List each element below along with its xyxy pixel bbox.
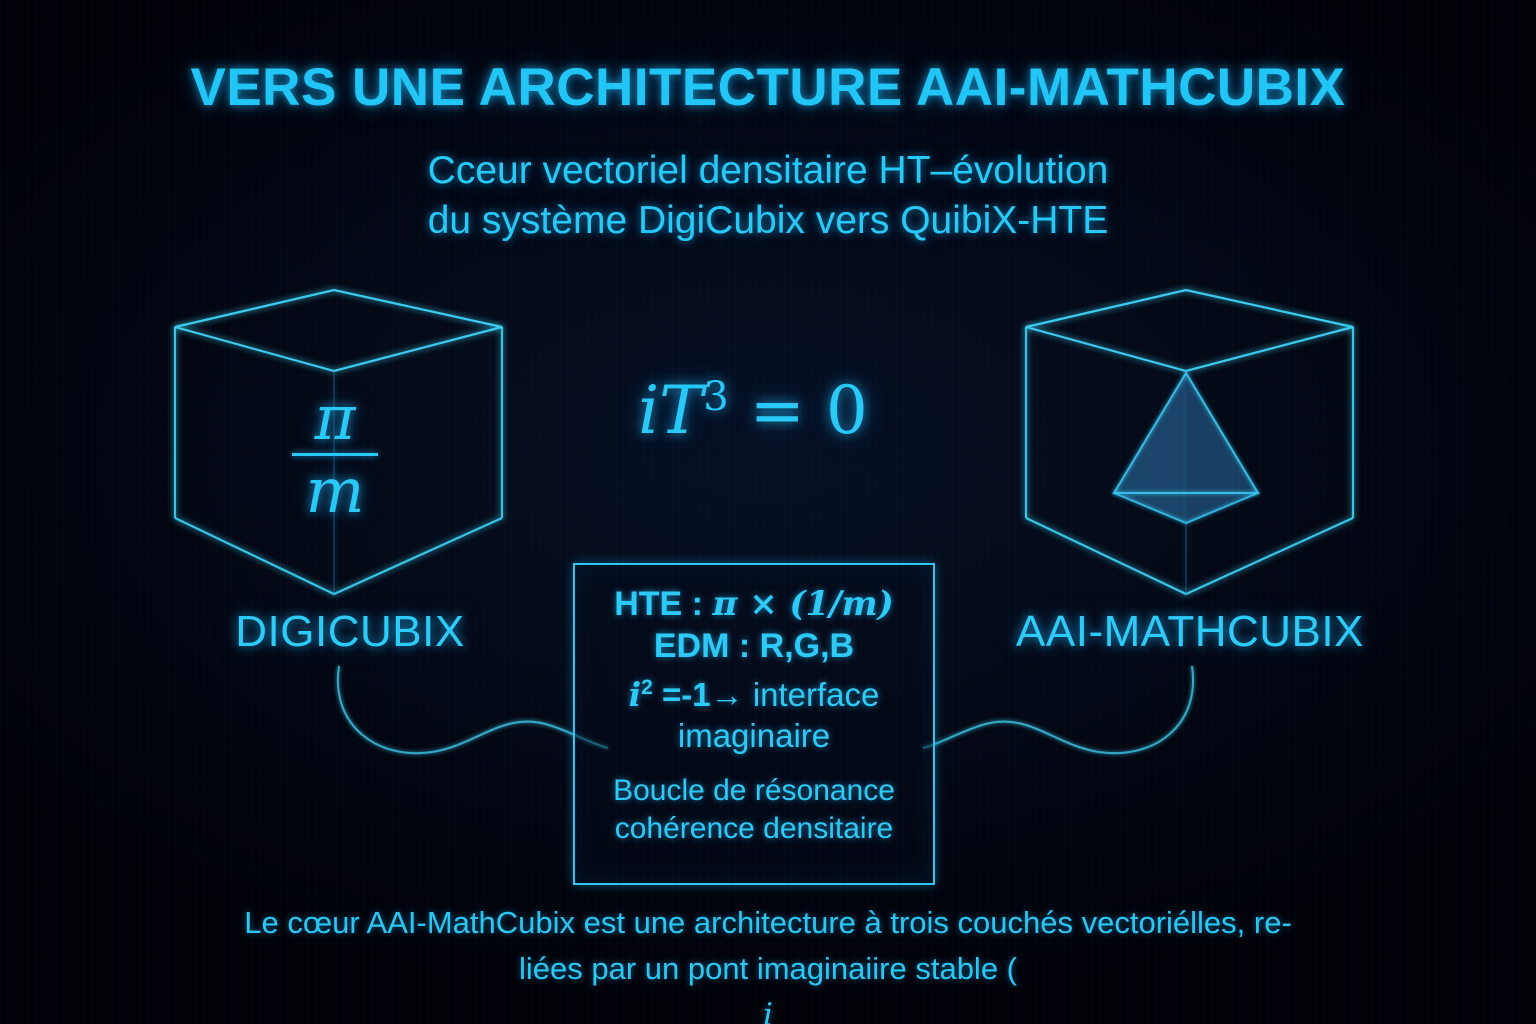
fraction-denominator: m [255,458,415,523]
panel-imaginary-arrow: → [711,676,744,713]
panel-edm-label: EDM : [654,627,750,665]
panel-edm-value: R,G,B [760,627,854,665]
subtitle-line-2: du système DigiCubix vers QuibiX-HTE [0,196,1536,246]
page-subtitle: Cceur vectoriel densitaire HT–évolution … [0,146,1536,246]
caption-line-2: liées par un pont imaginaiire stable (i2… [0,946,1536,1024]
panel-hte-label: HTE : [614,585,703,623]
panel-imaginary-exponent: 2 [641,676,653,699]
panel-imaginary-row: i2 =-1→ interface imaginaire [589,667,919,756]
panel-loop-line-1: Boucle de résonance [613,774,895,807]
pyramid-icon [1114,373,1258,523]
panel-hte-value: π × (1/m) [712,584,893,624]
panel-imaginary-value: =-1 [662,676,711,713]
subtitle-line-1: Cceur vectoriel densitaire HT–évolution [0,146,1536,196]
hte-panel: HTE : π × (1/m) EDM : R,G,B i2 =-1→ inte… [573,563,935,885]
equation-rhs: = 0 [750,372,868,449]
left-wave-connector [338,666,608,753]
footer-caption: Le cœur AAI-MathCubix est une architectu… [0,900,1536,1024]
central-equation: iT3 = 0 [553,372,953,449]
digicubix-label: DIGICUBIX [150,607,550,657]
equation-exponent: 3 [703,374,728,420]
fraction-numerator: π [255,385,415,450]
right-wave-connector [923,666,1193,753]
panel-loop-line-2: cohérence densitaire [615,812,894,845]
pi-over-m-fraction: π m [255,385,415,523]
aai-mathcubix-label: AAI-MATHCUBIX [980,607,1400,657]
diagram-canvas: VERS UNE ARCHITECTURE AAI-MATHCUBIX Cceu… [0,0,1536,1024]
page-title: VERS UNE ARCHITECTURE AAI-MATHCUBIX [0,57,1536,118]
caption-line-1: Le cœur AAI-MathCubix est une architectu… [0,900,1536,946]
panel-loop-rows: Boucle de résonance cohérence densitaire [589,772,919,848]
caption-imaginary-symbol: i [0,992,1536,1024]
caption-line-2-part-a: liées par un pont imaginaiire stable ( [0,946,1536,992]
equation-base: iT [638,372,703,449]
panel-imaginary-symbol: i [629,675,642,714]
panel-edm-row: EDM : R,G,B [654,625,854,667]
panel-hte-row: HTE : π × (1/m) [614,583,894,625]
